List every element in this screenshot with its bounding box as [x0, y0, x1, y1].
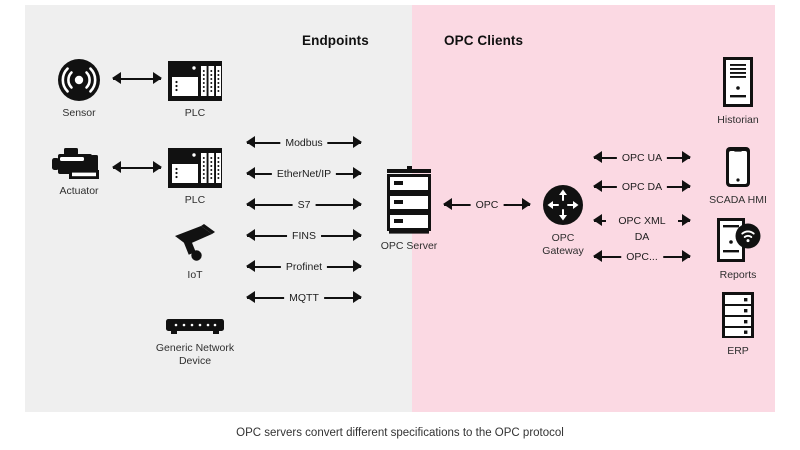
arrow-head-right-icon [682, 180, 691, 192]
node-label: Historian [717, 114, 758, 127]
node-erp[interactable]: ERP [705, 290, 771, 358]
node-label: PLC [185, 194, 205, 207]
node-reports[interactable]: Reports [705, 216, 771, 282]
network-switch-icon [164, 317, 226, 337]
node-label: ERP [727, 345, 749, 358]
node-label: SCADA HMI [709, 194, 767, 207]
link-label: OPC [471, 199, 504, 211]
opc-spec-arrow-opc-other: OPC... [594, 248, 690, 266]
node-historian[interactable]: Historian [705, 55, 771, 127]
opc-spec-arrow-opc-xml-da: OPC XML [594, 212, 690, 230]
arrow-head-right-icon [153, 72, 162, 84]
node-label: Actuator [59, 185, 98, 198]
opc-spec-label: OPC... [621, 251, 663, 263]
arrow-head-left-icon [246, 229, 255, 241]
protocol-label: S7 [293, 199, 316, 211]
arrow-head-left-icon [246, 167, 255, 179]
node-actuator[interactable]: Actuator [45, 146, 113, 198]
node-plc-2[interactable]: PLC [163, 147, 227, 207]
node-label: IoT [187, 269, 202, 282]
link-sensor-plc [113, 70, 161, 88]
node-label: Sensor [62, 107, 95, 120]
node-generic-network-device[interactable]: Generic Network Device [147, 317, 243, 367]
node-scada-hmi[interactable]: SCADA HMI [705, 145, 771, 207]
node-label-line2: Gateway [542, 245, 583, 258]
endpoints-heading: Endpoints [302, 33, 369, 48]
opc-spec-label: OPC UA [617, 152, 667, 164]
opc-server-icon [383, 165, 435, 235]
arrow-head-left-icon [593, 180, 602, 192]
node-opc-gateway[interactable]: OPC Gateway [534, 183, 592, 257]
plc-icon [167, 147, 223, 189]
plc-icon [167, 60, 223, 102]
opc-spec-label-line2: DA [594, 231, 690, 243]
node-sensor[interactable]: Sensor [47, 58, 111, 120]
reports-tower-wifi-icon [715, 216, 761, 264]
node-label: Reports [720, 269, 757, 282]
protocol-label: FINS [287, 230, 321, 242]
arrow-head-right-icon [353, 198, 362, 210]
protocol-arrow-modbus: Modbus [247, 134, 361, 152]
node-opc-server[interactable]: OPC Server [380, 165, 438, 253]
ip-camera-icon [171, 222, 219, 264]
protocol-arrow-s7: S7 [247, 196, 361, 214]
arrow-head-right-icon [353, 260, 362, 272]
arrow-head-right-icon [353, 136, 362, 148]
arrow-head-left-icon [246, 291, 255, 303]
protocol-arrow-fins: FINS [247, 227, 361, 245]
protocol-label: Profinet [281, 261, 327, 273]
motor-actuator-icon [50, 146, 108, 180]
arrow-head-right-icon [353, 167, 362, 179]
opc-spec-label: OPC DA [617, 181, 667, 193]
opc-gateway-icon [541, 183, 585, 227]
arrow-head-right-icon [522, 198, 531, 210]
diagram-caption: OPC servers convert different specificat… [0, 427, 800, 439]
opc-spec-label-line1: OPC XML [606, 215, 678, 228]
arrow-head-right-icon [682, 250, 691, 262]
node-label-line1: OPC [552, 232, 575, 245]
protocol-arrow-profinet: Profinet [247, 258, 361, 276]
historian-tower-icon [721, 55, 755, 109]
arrow-head-left-icon [246, 260, 255, 272]
arrow-head-right-icon [682, 151, 691, 163]
node-iot[interactable]: IoT [163, 222, 227, 282]
node-label: Generic Network Device [147, 342, 243, 367]
arrow-head-right-icon [682, 214, 691, 226]
wireless-sensor-icon [57, 58, 101, 102]
opc-spec-arrow-opc-ua: OPC UA [594, 149, 690, 167]
protocol-label: Modbus [280, 137, 327, 149]
node-plc-1[interactable]: PLC [163, 60, 227, 120]
opc-clients-heading: OPC Clients [444, 33, 523, 48]
arrow-head-right-icon [353, 291, 362, 303]
link-server-gateway: OPC [444, 196, 530, 214]
protocol-label: EtherNet/IP [272, 168, 336, 180]
arrow-head-left-icon [593, 250, 602, 262]
mobile-hmi-icon [724, 145, 752, 189]
opc-spec-arrow-opc-da: OPC DA [594, 178, 690, 196]
arrow-head-left-icon [593, 214, 602, 226]
protocol-arrow-mqtt: MQTT [247, 289, 361, 307]
node-label: PLC [185, 107, 205, 120]
arrow-head-left-icon [593, 151, 602, 163]
arrow-head-left-icon [443, 198, 452, 210]
arrow-head-left-icon [112, 161, 121, 173]
erp-rack-icon [720, 290, 756, 340]
arrow-head-left-icon [246, 136, 255, 148]
arrow-head-right-icon [153, 161, 162, 173]
arrow-head-left-icon [112, 72, 121, 84]
node-label: OPC Server [381, 240, 438, 253]
arrow-head-right-icon [353, 229, 362, 241]
protocol-label: MQTT [284, 292, 324, 304]
arrow-head-left-icon [246, 198, 255, 210]
link-actuator-plc [113, 159, 161, 177]
protocol-arrow-ethernet-ip: EtherNet/IP [247, 165, 361, 183]
